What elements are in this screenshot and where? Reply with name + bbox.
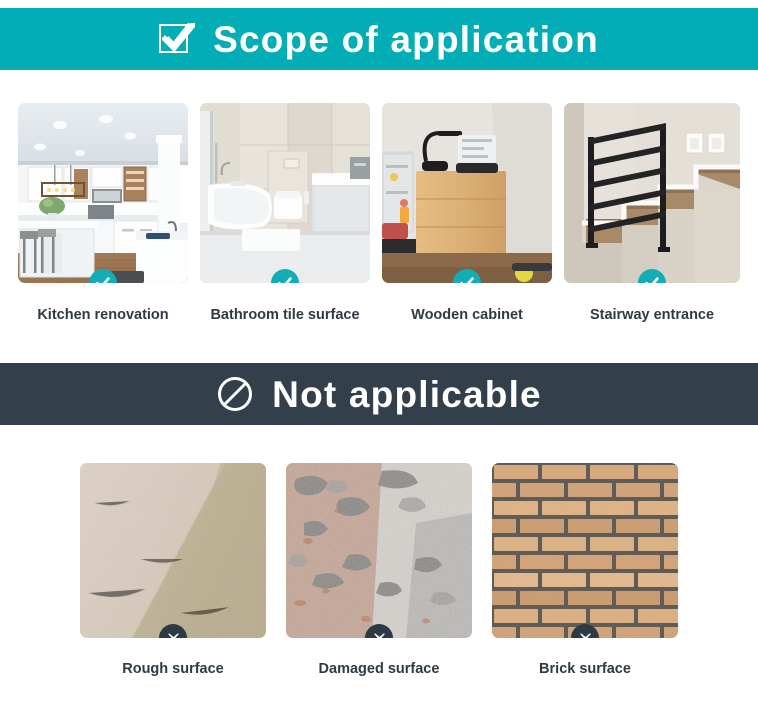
list-item[interactable]: Stairway entrance	[564, 103, 740, 323]
list-item-label: Bathroom tile surface	[210, 307, 359, 323]
prohibited-icon	[216, 375, 254, 413]
section-title: Not applicable	[272, 376, 542, 413]
not-applicable-header-bar: Not applicable	[0, 363, 758, 425]
kitchen-photo	[18, 103, 188, 283]
section-divider	[0, 348, 758, 363]
list-item[interactable]: Wooden cabinet	[382, 103, 552, 323]
list-item[interactable]: Damaged surface	[286, 463, 472, 677]
brick-wall-photo	[492, 463, 678, 638]
not-applicable-items-row: Rough surface	[0, 463, 758, 677]
page-title: Scope of application	[213, 21, 599, 58]
peeling-paint-photo	[286, 463, 472, 638]
list-item[interactable]: Brick surface	[492, 463, 678, 677]
applicable-items-row: Kitchen renovation	[0, 103, 758, 323]
list-item[interactable]: Rough surface	[80, 463, 266, 677]
bathroom-photo	[200, 103, 370, 283]
list-item-label: Wooden cabinet	[411, 307, 523, 323]
list-item[interactable]: Bathroom tile surface	[200, 103, 370, 323]
list-item-label: Stairway entrance	[590, 307, 714, 323]
stairway-photo	[564, 103, 740, 283]
rough-stucco-photo	[80, 463, 266, 638]
checked-checkbox-icon	[159, 21, 195, 57]
list-item-label: Rough surface	[122, 661, 224, 677]
list-item-label: Brick surface	[539, 661, 631, 677]
list-item-label: Damaged surface	[319, 661, 440, 677]
list-item[interactable]: Kitchen renovation	[18, 103, 188, 323]
scope-of-application-header-bar: Scope of application	[0, 8, 758, 70]
list-item-label: Kitchen renovation	[37, 307, 168, 323]
wooden-cabinet-photo	[382, 103, 552, 283]
